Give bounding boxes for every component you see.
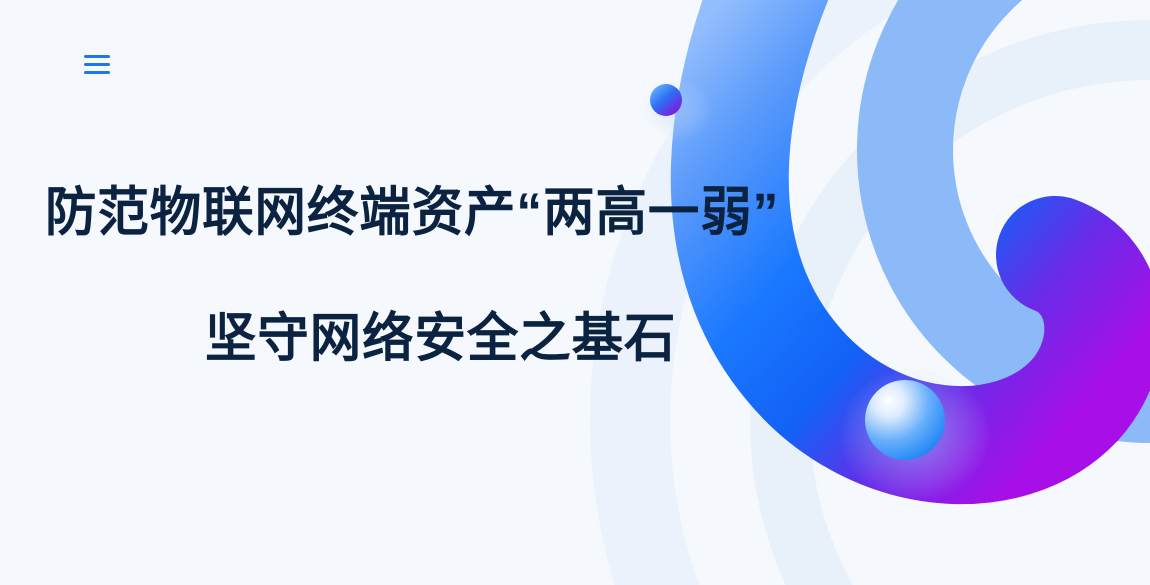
large-blue-sphere	[839, 366, 991, 502]
small-gradient-sphere	[640, 78, 712, 142]
hamburger-bar-bottom	[84, 71, 110, 74]
hamburger-menu-icon[interactable]	[84, 50, 114, 78]
hamburger-bar-middle	[84, 63, 110, 66]
headline-line-2: 坚守网络安全之基石	[205, 312, 860, 365]
headline-line-1: 防范物联网终端资产“两高一弱”	[45, 186, 855, 239]
light-blue-arc	[905, 0, 1150, 395]
slide-canvas: 防范物联网终端资产“两高一弱” 坚守网络安全之基石	[0, 0, 1150, 585]
hamburger-bar-top	[84, 55, 110, 58]
page-title: 防范物联网终端资产“两高一弱” 坚守网络安全之基石	[0, 186, 880, 365]
